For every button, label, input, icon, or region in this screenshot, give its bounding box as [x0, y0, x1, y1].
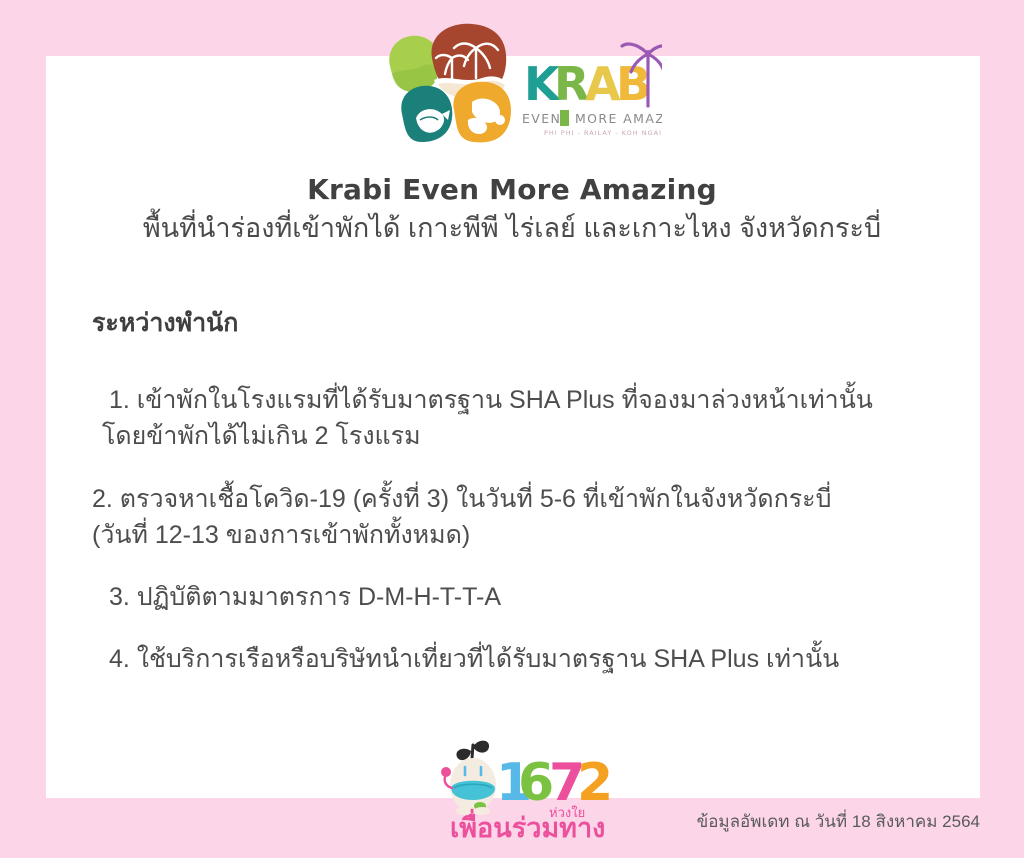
svg-text:PHI PHI - RAILAY - KOH NGAI: PHI PHI - RAILAY - KOH NGAI	[544, 129, 662, 137]
poster-root: K R A B EVEN MORE AMAZING PHI PHI - RA	[0, 0, 1024, 858]
update-timestamp: ข้อมูลอัพเดท ณ วันที่ 18 สิงหาคม 2564	[697, 808, 980, 835]
svg-text:2: 2	[577, 753, 612, 813]
svg-text:เพื่อนร่วมทาง: เพื่อนร่วมทาง	[450, 808, 605, 842]
rules-list: 1. เข้าพักในโรงแรมที่ได้รับมาตรฐาน SHA P…	[92, 382, 928, 704]
page-title-th: พื้นที่นำร่องที่เข้าพักได้ เกาะพีพี ไร่เ…	[0, 211, 1024, 246]
page-title-en: Krabi Even More Amazing	[0, 172, 1024, 207]
section-heading: ระหว่างพำนัก	[92, 303, 238, 343]
krabi-logo: K R A B EVEN MORE AMAZING PHI PHI - RA	[372, 22, 662, 144]
list-item: 3. ปฏิบัติตามมาตรการ D-M-H-T-T-A	[92, 579, 928, 615]
svg-text:MORE AMAZING: MORE AMAZING	[575, 111, 662, 126]
hotline-1672-logo: 1 6 7 2 ห่วงใย เพื่อนร่วมทาง	[440, 738, 612, 842]
svg-text:EVEN: EVEN	[522, 111, 561, 126]
heading-block: Krabi Even More Amazing พื้นที่นำร่องที่…	[0, 172, 1024, 246]
list-item: 2. ตรวจหาเชื้อโควิด-19 (ครั้งที่ 3) ในวั…	[92, 481, 928, 554]
list-item: 4. ใช้บริการเรือหรือบริษัทนำเที่ยวที่ได้…	[92, 641, 928, 677]
list-item: 1. เข้าพักในโรงแรมที่ได้รับมาตรฐาน SHA P…	[92, 382, 928, 455]
